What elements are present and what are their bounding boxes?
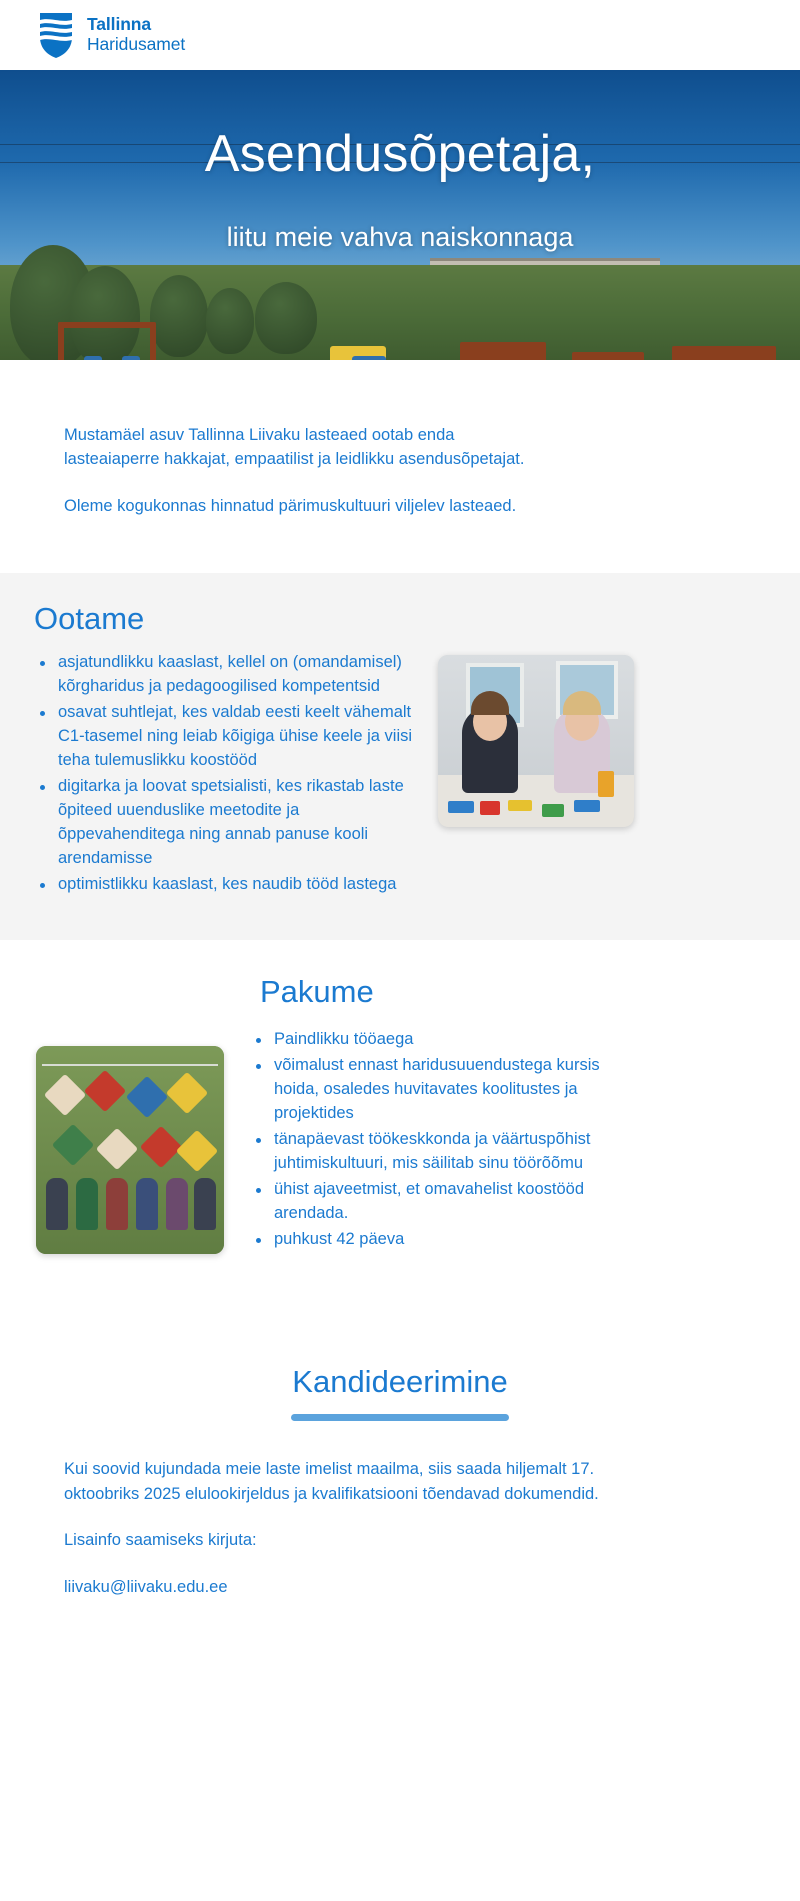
- page-bottom-spacer: [0, 1661, 800, 1901]
- intro-paragraph-1: Mustamäel asuv Tallinna Liivaku lasteaed…: [0, 423, 545, 472]
- heading-underline-rule: [291, 1414, 509, 1421]
- list-item: võimalust ennast haridusuuendustega kurs…: [250, 1054, 644, 1126]
- child: [106, 1178, 128, 1230]
- ootame-text-column: asjatundlikku kaaslast, kellel on (omand…: [0, 651, 430, 898]
- pakume-heading: Pakume: [0, 974, 800, 1010]
- hero-text-overlay: Asendusõpetaja, liitu meie vahva naiskon…: [0, 70, 800, 360]
- brand-line-2: Haridusamet: [87, 35, 185, 55]
- toy-brick: [508, 800, 532, 811]
- kandideerimine-paragraph-2: Lisainfo saamiseks kirjuta:: [64, 1528, 624, 1552]
- intro-section: Mustamäel asuv Tallinna Liivaku lasteaed…: [0, 360, 800, 573]
- list-item: optimistlikku kaaslast, kes naudib tööd …: [34, 873, 430, 897]
- contact-email-paragraph: liivaku@liivaku.edu.ee: [64, 1575, 624, 1599]
- child: [136, 1178, 158, 1230]
- child: [166, 1178, 188, 1230]
- clothesline: [42, 1064, 218, 1066]
- children-blocks-photo: [438, 655, 634, 827]
- toy-brick: [574, 800, 600, 812]
- list-item: Paindlikku tööaega: [250, 1028, 644, 1052]
- site-header: Tallinna Haridusamet: [0, 0, 800, 70]
- list-item: asjatundlikku kaaslast, kellel on (omand…: [34, 651, 430, 699]
- list-item: puhkust 42 päeva: [250, 1228, 644, 1252]
- toy-brick: [598, 771, 614, 797]
- kandideerimine-paragraph-1: Kui soovid kujundada meie laste imelist …: [64, 1457, 624, 1506]
- hero-banner: Asendusõpetaja, liitu meie vahva naiskon…: [0, 70, 800, 360]
- hero-subtitle: liitu meie vahva naiskonnaga: [227, 222, 574, 253]
- toy-brick: [542, 804, 564, 817]
- ootame-image-column: [430, 651, 634, 827]
- list-item: osavat suhtlejat, kes valdab eesti keelt…: [34, 701, 430, 773]
- contact-email-link[interactable]: liivaku@liivaku.edu.ee: [64, 1578, 228, 1596]
- tallinn-shield-icon: [38, 11, 74, 59]
- pakume-section: Pakume Pa: [0, 940, 800, 1314]
- brand-line-1: Tallinna: [87, 15, 185, 35]
- hero-title: Asendusõpetaja,: [205, 124, 595, 184]
- child: [194, 1178, 216, 1230]
- children-kites-photo: [36, 1046, 224, 1254]
- list-item: digitarka ja loovat spetsialisti, kes ri…: [34, 775, 430, 871]
- ootame-heading: Ootame: [0, 601, 800, 637]
- list-item: ühist ajaveetmist, et omavahelist koostö…: [250, 1178, 644, 1226]
- pakume-list: Paindlikku tööaega võimalust ennast hari…: [250, 1028, 644, 1251]
- child: [46, 1178, 68, 1230]
- pakume-text-column: Paindlikku tööaega võimalust ennast hari…: [224, 1028, 644, 1253]
- list-item: tänapäevast töökeskkonda ja väärtuspõhis…: [250, 1128, 644, 1176]
- child: [76, 1178, 98, 1230]
- intro-paragraph-2: Oleme kogukonnas hinnatud pärimuskultuur…: [0, 494, 545, 518]
- brand-wordmark: Tallinna Haridusamet: [87, 15, 185, 54]
- toy-brick: [448, 801, 474, 813]
- kandideerimine-body: Kui soovid kujundada meie laste imelist …: [0, 1457, 800, 1599]
- pakume-image-column: [0, 1028, 224, 1254]
- kandideerimine-heading: Kandideerimine: [0, 1364, 800, 1400]
- kandideerimine-section: Kandideerimine Kui soovid kujundada meie…: [0, 1314, 800, 1661]
- brand-logo[interactable]: Tallinna Haridusamet: [38, 11, 185, 59]
- toy-brick: [480, 801, 500, 815]
- ootame-list: asjatundlikku kaaslast, kellel on (omand…: [34, 651, 430, 896]
- ootame-section: Ootame asjatundlikku kaaslast, kellel on…: [0, 573, 800, 940]
